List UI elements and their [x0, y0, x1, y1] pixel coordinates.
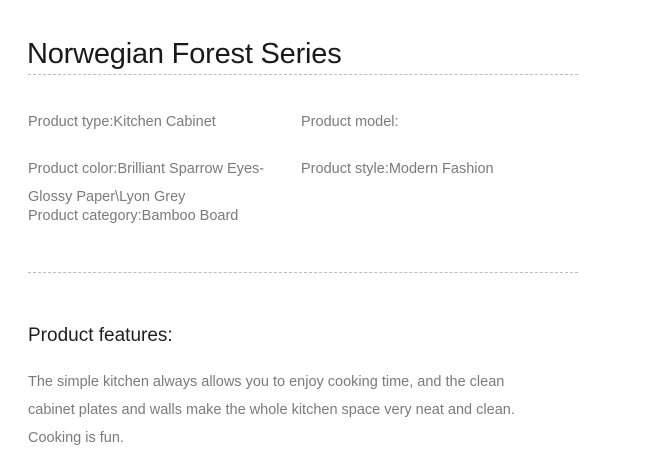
divider-bottom: [28, 272, 578, 273]
features-heading: Product features:: [28, 323, 173, 349]
spec-product-type: Product type:Kitchen Cabinet: [28, 108, 296, 136]
page-title: Norwegian Forest Series: [27, 36, 342, 72]
product-detail-page: Norwegian Forest Series Product type:Kit…: [0, 0, 651, 461]
features-body-text: The simple kitchen always allows you to …: [28, 368, 548, 452]
spec-product-style: Product style:Modern Fashion: [301, 155, 601, 183]
spec-row: Product category:Bamboo Board: [28, 202, 608, 230]
product-spec-list: Product type:Kitchen Cabinet Product mod…: [28, 108, 608, 230]
spec-product-category: Product category:Bamboo Board: [28, 202, 296, 230]
spec-row: Product color:Brilliant Sparrow Eyes-Glo…: [28, 155, 608, 183]
spec-product-model: Product model:: [301, 108, 601, 136]
divider-top: [28, 74, 578, 75]
spec-row: Product type:Kitchen Cabinet Product mod…: [28, 108, 608, 136]
